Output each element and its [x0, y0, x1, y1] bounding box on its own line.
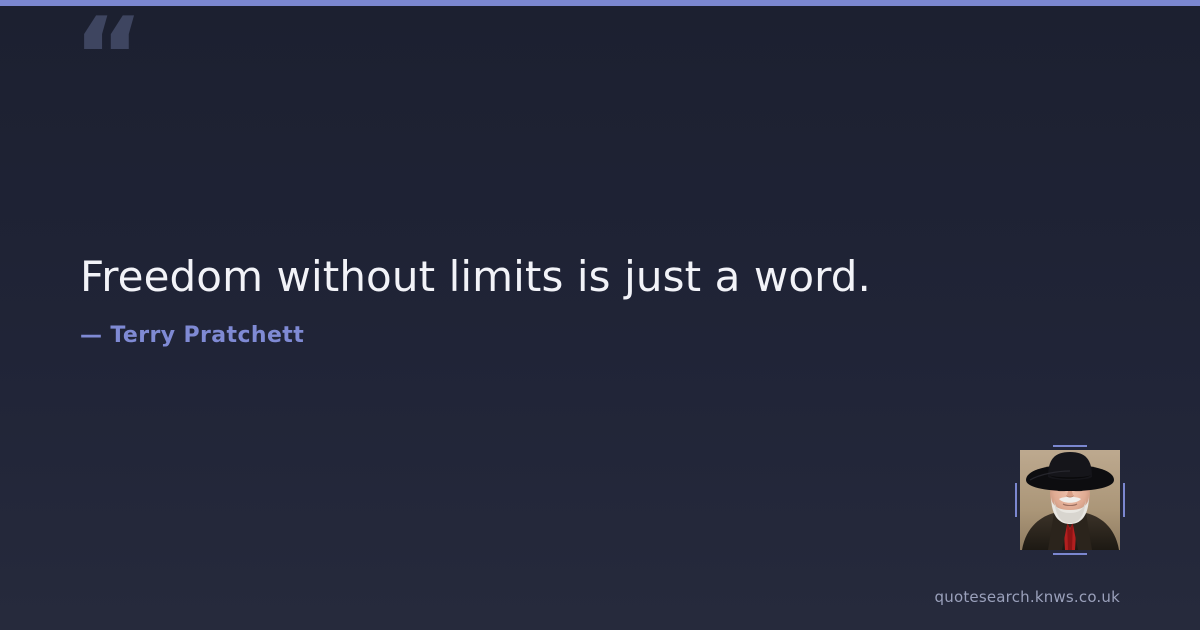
attribution-dash: — — [80, 323, 102, 348]
quote-card: “ Freedom without limits is just a word.… — [0, 0, 1200, 630]
frame-segment-bottom — [1053, 553, 1087, 555]
attribution-author: Terry Pratchett — [110, 323, 304, 348]
frame-segment-top — [1053, 445, 1087, 447]
source-url: quotesearch.knws.co.uk — [935, 588, 1120, 606]
author-portrait — [1020, 450, 1120, 550]
opening-quote-icon: “ — [73, 4, 142, 112]
author-portrait-image — [1020, 450, 1120, 550]
quote-attribution: —Terry Pratchett — [80, 304, 1080, 349]
top-accent-bar — [0, 0, 1200, 6]
frame-segment-right — [1123, 483, 1125, 517]
quote-block: Freedom without limits is just a word. —… — [80, 250, 1080, 349]
frame-segment-left — [1015, 483, 1017, 517]
author-portrait-frame — [1020, 450, 1120, 550]
quote-text: Freedom without limits is just a word. — [80, 250, 1080, 304]
